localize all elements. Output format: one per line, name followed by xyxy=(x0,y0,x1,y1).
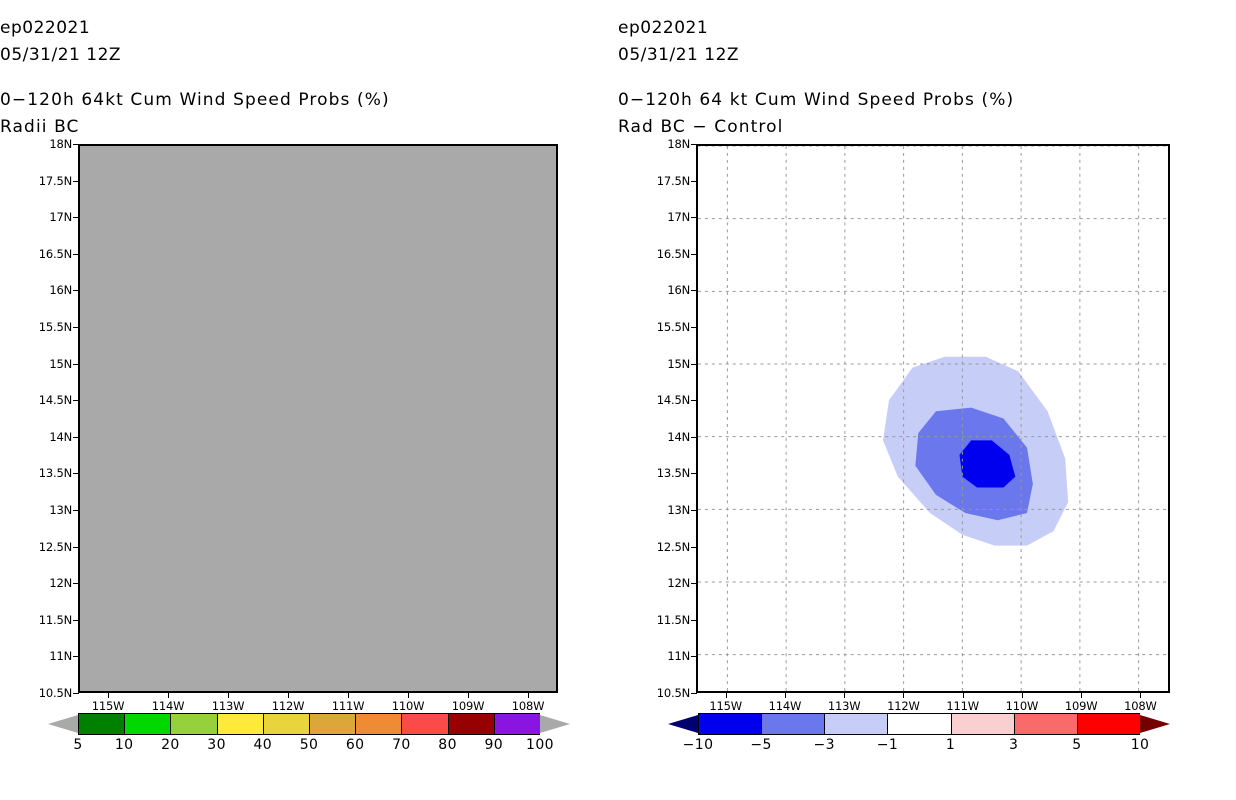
panel-right-title: 0−120h 64 kt Cum Wind Speed Probs (%) xyxy=(618,90,1236,110)
colorbar-tick-label: 100 xyxy=(526,737,554,753)
y-axis-tick-mark xyxy=(691,656,697,657)
y-axis-tick-label: 11.5N xyxy=(34,613,72,627)
y-axis-tick-mark xyxy=(73,290,79,291)
y-axis-tick-mark xyxy=(73,327,79,328)
x-axis-tick-label: 113W xyxy=(212,699,245,713)
colorbar-swatch xyxy=(78,713,124,735)
colorbar-tick-label: 5 xyxy=(1072,737,1081,753)
y-axis-tick-mark xyxy=(691,181,697,182)
panel-right-datetime: 05/31/21 12Z xyxy=(618,45,1236,65)
colorbar-swatch xyxy=(124,713,170,735)
y-axis-tick-label: 16N xyxy=(652,283,690,297)
colorbar-tick-label: 3 xyxy=(1009,737,1018,753)
colorbar-swatch xyxy=(698,713,761,735)
y-axis-tick-mark xyxy=(691,693,697,694)
grid-lines-left xyxy=(80,146,556,691)
y-axis-tick-label: 14N xyxy=(652,430,690,444)
y-axis-tick-label: 15.5N xyxy=(34,320,72,334)
y-axis-tick-label: 16.5N xyxy=(34,247,72,261)
y-axis-tick-mark xyxy=(73,217,79,218)
y-axis-tick-label: 17.5N xyxy=(652,174,690,188)
y-axis-tick-mark xyxy=(73,473,79,474)
x-axis-tick-mark xyxy=(844,693,845,698)
y-axis-tick-label: 15N xyxy=(652,357,690,371)
x-axis-tick-label: 109W xyxy=(1065,699,1098,713)
y-axis-tick-label: 13.5N xyxy=(34,466,72,480)
colorbar-swatch xyxy=(263,713,309,735)
x-axis-tick-label: 113W xyxy=(828,699,861,713)
colorbar-swatch xyxy=(309,713,355,735)
difference-colorbar-swatches xyxy=(668,713,1170,735)
y-axis-tick-mark xyxy=(73,693,79,694)
y-axis-tick-mark xyxy=(691,473,697,474)
colorbar-tick-label: 5 xyxy=(73,737,82,753)
x-axis-tick-mark xyxy=(903,693,904,698)
colorbar-swatch xyxy=(951,713,1014,735)
colorbar-swatch xyxy=(824,713,887,735)
x-axis-tick-label: 110W xyxy=(1006,699,1039,713)
y-axis-tick-label: 11N xyxy=(652,649,690,663)
colorbar-arrow-high xyxy=(1140,713,1170,735)
y-axis-tick-label: 17N xyxy=(34,210,72,224)
x-axis-tick-label: 112W xyxy=(272,699,305,713)
y-axis-tick-label: 17N xyxy=(652,210,690,224)
probability-colorbar-swatches xyxy=(48,713,570,735)
y-axis-tick-label: 14.5N xyxy=(34,393,72,407)
x-axis-tick-label: 114W xyxy=(769,699,802,713)
y-axis-tick-mark xyxy=(691,547,697,548)
x-axis-tick-label: 108W xyxy=(1124,699,1157,713)
colorbar-arrow-low xyxy=(668,713,698,735)
plot-area-rad-bc-minus-control[interactable] xyxy=(696,144,1170,693)
grid-lines-right xyxy=(698,146,1168,691)
probability-colorbar: 5102030405060708090100 xyxy=(48,713,570,773)
colorbar-tick-label: 40 xyxy=(253,737,272,753)
panel-left-datetime: 05/31/21 12Z xyxy=(0,45,618,65)
y-axis-tick-label: 14.5N xyxy=(652,393,690,407)
y-axis-tick-mark xyxy=(73,400,79,401)
colorbar-swatch xyxy=(217,713,263,735)
y-axis-tick-label: 15N xyxy=(34,357,72,371)
x-axis-tick-label: 110W xyxy=(392,699,425,713)
x-axis-tick-label: 109W xyxy=(452,699,485,713)
x-axis-tick-mark xyxy=(228,693,229,698)
y-axis-tick-label: 16N xyxy=(34,283,72,297)
x-axis-tick-mark xyxy=(963,693,964,698)
y-axis-tick-mark xyxy=(691,583,697,584)
x-axis-tick-label: 115W xyxy=(709,699,742,713)
y-axis-tick-label: 10.5N xyxy=(34,686,72,700)
panel-left-storm-id: ep022021 xyxy=(0,18,618,38)
x-axis-tick-label: 114W xyxy=(152,699,185,713)
y-axis-tick-label: 10.5N xyxy=(652,686,690,700)
y-axis-tick-mark xyxy=(691,400,697,401)
x-axis-tick-mark xyxy=(168,693,169,698)
y-axis-tick-label: 12N xyxy=(652,576,690,590)
colorbar-tick-label: 10 xyxy=(1131,737,1150,753)
y-axis-tick-mark xyxy=(691,510,697,511)
y-axis-tick-label: 15.5N xyxy=(652,320,690,334)
panel-left-title: 0−120h 64kt Cum Wind Speed Probs (%) xyxy=(0,90,618,110)
y-axis-tick-label: 17.5N xyxy=(34,174,72,188)
x-axis-tick-mark xyxy=(1140,693,1141,698)
panel-left-subtitle: Radii BC xyxy=(0,117,618,137)
y-axis-tick-mark xyxy=(73,656,79,657)
colorbar-tick-label: −3 xyxy=(814,737,835,753)
panel-right-subtitle: Rad BC − Control xyxy=(618,117,1236,137)
x-axis-tick-mark xyxy=(726,693,727,698)
y-axis-tick-label: 13.5N xyxy=(652,466,690,480)
y-axis-tick-mark xyxy=(691,290,697,291)
y-axis-tick-mark xyxy=(691,254,697,255)
y-axis-tick-label: 18N xyxy=(34,137,72,151)
y-axis-tick-label: 13N xyxy=(34,503,72,517)
colorbar-swatch xyxy=(494,713,540,735)
x-axis-tick-label: 111W xyxy=(332,699,365,713)
colorbar-tick-label: −1 xyxy=(877,737,898,753)
y-axis-tick-label: 13N xyxy=(652,503,690,517)
colorbar-swatch xyxy=(761,713,824,735)
y-axis-tick-mark xyxy=(691,620,697,621)
x-axis-tick-mark xyxy=(1081,693,1082,698)
plot-area-radii-bc[interactable] xyxy=(78,144,558,693)
y-axis-tick-label: 16.5N xyxy=(652,247,690,261)
colorbar-swatch xyxy=(448,713,494,735)
panel-right-storm-id: ep022021 xyxy=(618,18,1236,38)
panel-radii-bc: ep022021 05/31/21 12Z 0−120h 64kt Cum Wi… xyxy=(0,0,618,800)
colorbar-tick-label: 30 xyxy=(207,737,226,753)
x-axis-tick-mark xyxy=(1022,693,1023,698)
x-axis-tick-mark xyxy=(348,693,349,698)
y-axis-tick-mark xyxy=(73,437,79,438)
colorbar-tick-label: 50 xyxy=(300,737,319,753)
panel-rad-bc-minus-control: ep022021 05/31/21 12Z 0−120h 64 kt Cum W… xyxy=(618,0,1236,800)
colorbar-swatch xyxy=(1077,713,1140,735)
colorbar-tick-label: 20 xyxy=(161,737,180,753)
colorbar-swatch xyxy=(887,713,950,735)
colorbar-swatch xyxy=(1014,713,1077,735)
y-axis-tick-label: 18N xyxy=(652,137,690,151)
y-axis-tick-mark xyxy=(73,510,79,511)
x-axis-tick-mark xyxy=(785,693,786,698)
y-axis-tick-mark xyxy=(691,327,697,328)
x-axis-tick-label: 112W xyxy=(887,699,920,713)
y-axis-tick-mark xyxy=(73,620,79,621)
x-axis-tick-label: 115W xyxy=(92,699,125,713)
x-axis-tick-mark xyxy=(528,693,529,698)
y-axis-tick-label: 12.5N xyxy=(652,540,690,554)
colorbar-tick-label: 90 xyxy=(484,737,503,753)
y-axis-tick-mark xyxy=(691,144,697,145)
colorbar-tick-label: −10 xyxy=(683,737,714,753)
x-axis-tick-mark xyxy=(408,693,409,698)
colorbar-tick-label: 1 xyxy=(946,737,955,753)
colorbar-tick-label: 60 xyxy=(346,737,365,753)
y-axis-tick-mark xyxy=(73,583,79,584)
y-axis-tick-mark xyxy=(73,181,79,182)
figure-root: ep022021 05/31/21 12Z 0−120h 64kt Cum Wi… xyxy=(0,0,1236,800)
colorbar-arrow-low xyxy=(48,713,78,735)
colorbar-tick-label: 70 xyxy=(392,737,411,753)
y-axis-tick-label: 14N xyxy=(34,430,72,444)
colorbar-swatch xyxy=(355,713,401,735)
y-axis-tick-mark xyxy=(73,364,79,365)
colorbar-swatch xyxy=(170,713,216,735)
x-axis-tick-label: 108W xyxy=(512,699,545,713)
y-axis-tick-mark xyxy=(73,144,79,145)
y-axis-tick-mark xyxy=(691,437,697,438)
colorbar-arrow-high xyxy=(540,713,570,735)
y-axis-tick-mark xyxy=(691,364,697,365)
x-axis-tick-mark xyxy=(288,693,289,698)
y-axis-tick-label: 11.5N xyxy=(652,613,690,627)
colorbar-tick-label: −5 xyxy=(750,737,771,753)
y-axis-tick-mark xyxy=(73,254,79,255)
y-axis-tick-mark xyxy=(691,217,697,218)
y-axis-tick-label: 12N xyxy=(34,576,72,590)
x-axis-tick-mark xyxy=(108,693,109,698)
x-axis-tick-mark xyxy=(468,693,469,698)
y-axis-tick-label: 12.5N xyxy=(34,540,72,554)
y-axis-tick-mark xyxy=(73,547,79,548)
x-axis-tick-label: 111W xyxy=(946,699,979,713)
colorbar-swatch xyxy=(401,713,447,735)
difference-colorbar: −10−5−3−113510 xyxy=(668,713,1170,773)
colorbar-tick-label: 80 xyxy=(438,737,457,753)
y-axis-tick-label: 11N xyxy=(34,649,72,663)
colorbar-tick-label: 10 xyxy=(115,737,134,753)
